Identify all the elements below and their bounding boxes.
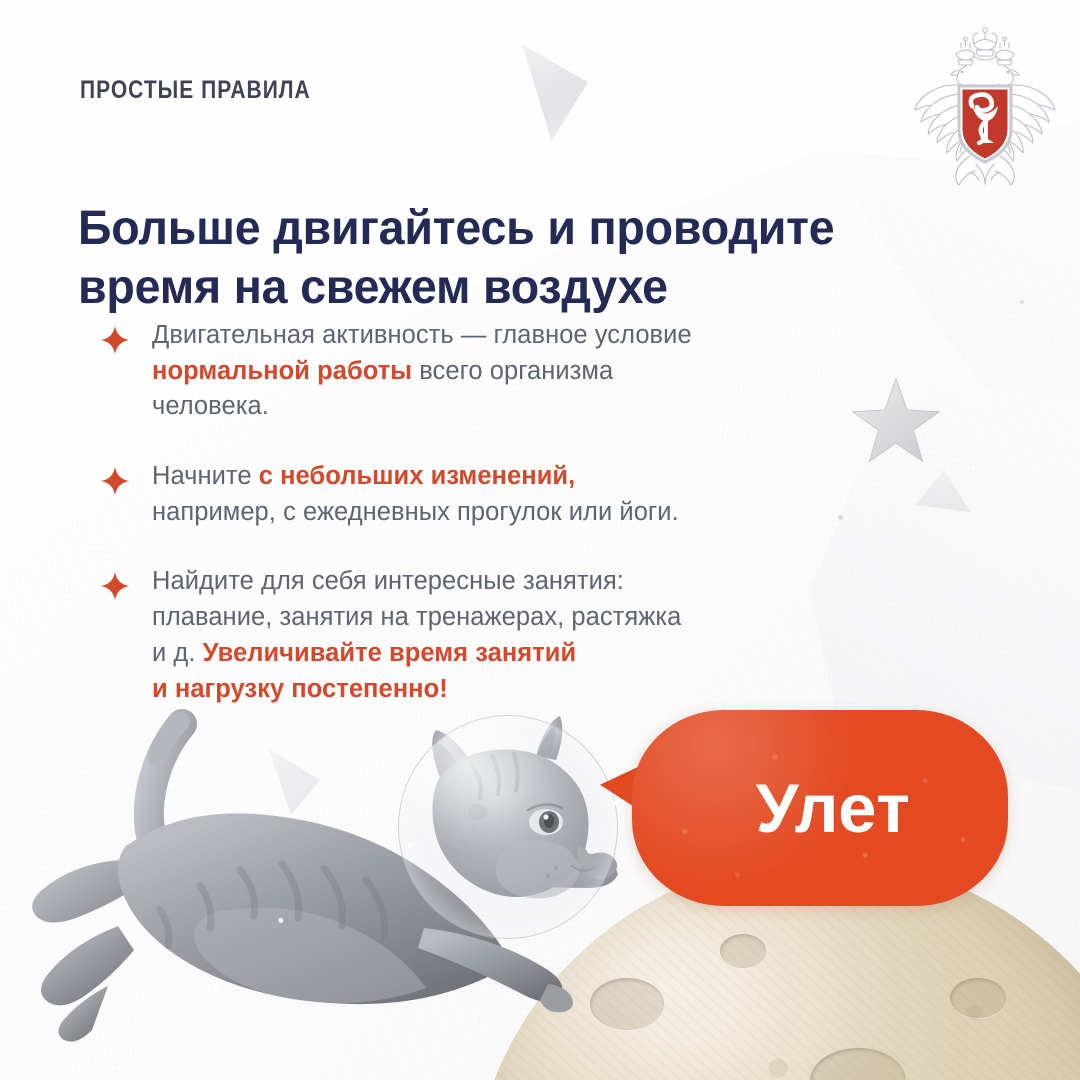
bullet-accent-text: с небольших изменений,	[259, 462, 576, 490]
headline-line-1: Больше двигайтесь и проводите	[78, 200, 903, 259]
eyebrow-label: ПРОСТЫЕ ПРАВИЛА	[80, 76, 311, 105]
bullet-item: Двигательная активность — главное услови…	[100, 318, 900, 425]
bullet-plain-text: Двигательная активность — главное услови…	[152, 321, 692, 349]
government-emblem-icon	[904, 22, 1066, 190]
bullet-accent-text: нормальной работы	[152, 357, 412, 385]
four-point-star-icon	[100, 571, 130, 601]
bullet-plain-text: плавание, занятия на тренажерах, растяжк…	[152, 603, 681, 631]
bullet-text: Двигательная активность — главное услови…	[152, 318, 900, 425]
bullet-plain-text: Начните	[152, 462, 259, 490]
bullet-line: Начните с небольших изменений,	[152, 459, 900, 495]
moon-crater	[950, 978, 1006, 1018]
headline-line-2: время на свежем воздухе	[78, 259, 903, 318]
bullet-line: Двигательная активность — главное услови…	[152, 318, 900, 354]
bullet-line: например, с ежедневных прогулок или йоги…	[152, 495, 900, 531]
page-title: Больше двигайтесь и проводите время на с…	[78, 200, 928, 317]
bullet-line: плавание, занятия на тренажерах, растяжк…	[152, 600, 900, 636]
bullet-plain-text: Найдите для себя интересные занятия:	[152, 567, 624, 595]
bullet-line: нормальной работы всего организма	[152, 354, 900, 390]
bullet-plain-text: например, с ежедневных прогулок или йоги…	[152, 498, 679, 526]
space-helmet-icon	[398, 715, 618, 939]
bullet-plain-text: всего организма	[412, 357, 613, 385]
four-point-star-icon	[100, 466, 130, 496]
bullet-plain-text: человека.	[152, 392, 269, 420]
four-point-star-icon	[100, 325, 130, 355]
bullet-line: человека.	[152, 389, 900, 425]
bullet-item: Начните с небольших изменений,например, …	[100, 459, 900, 530]
illustration-area: Улет	[0, 660, 1080, 1080]
bullet-text: Начните с небольших изменений,например, …	[152, 459, 900, 530]
speech-bubble-label: Улет	[632, 710, 1008, 906]
poster-canvas: ПРОСТЫЕ ПРАВИЛА	[0, 0, 1080, 1080]
moon-crater	[720, 934, 766, 968]
bullet-line: Найдите для себя интересные занятия:	[152, 564, 900, 600]
